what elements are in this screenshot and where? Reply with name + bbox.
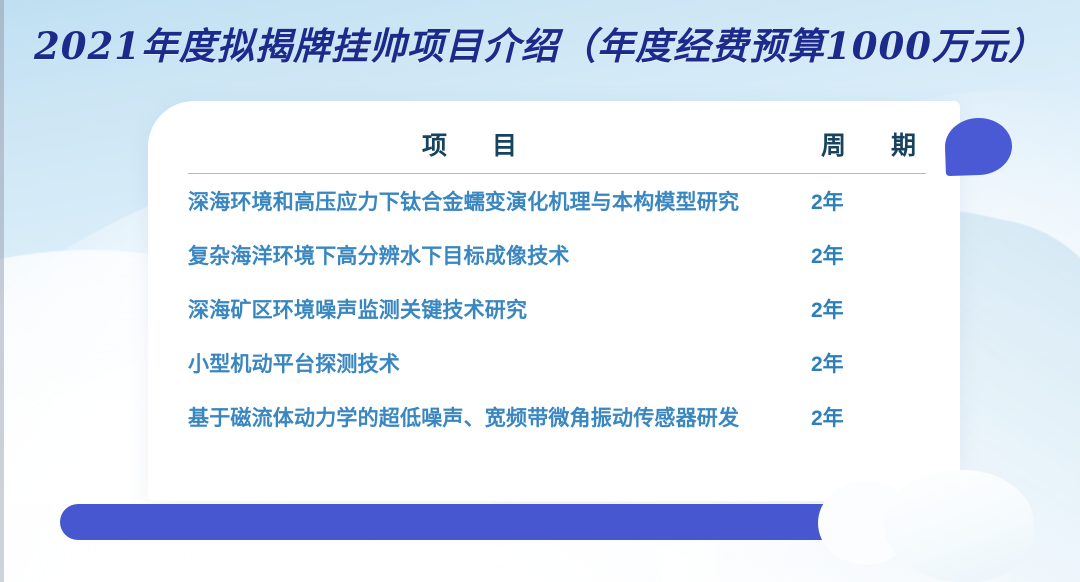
table-header-row: 项 目 周 期	[188, 126, 926, 174]
project-period: 2年	[797, 402, 926, 432]
project-name: 复杂海洋环境下高分辨水下目标成像技术	[188, 240, 797, 270]
table-row: 深海环境和高压应力下钛合金蠕变演化机理与本构模型研究 2年	[188, 174, 926, 228]
project-period: 2年	[797, 240, 926, 270]
project-period: 2年	[797, 186, 926, 216]
table-row: 深海矿区环境噪声监测关键技术研究 2年	[188, 282, 926, 336]
slide-canvas: 2021年度拟揭牌挂帅项目介绍（年度经费预算1000万元） 项 目 周 期 深海…	[0, 0, 1080, 582]
project-name: 深海环境和高压应力下钛合金蠕变演化机理与本构模型研究	[188, 186, 797, 216]
project-period: 2年	[797, 294, 926, 324]
column-header-period: 周 期	[811, 126, 926, 162]
column-header-project: 项 目	[188, 126, 811, 162]
project-period: 2年	[797, 348, 926, 378]
project-name: 深海矿区环境噪声监测关键技术研究	[188, 294, 797, 324]
leaf-decoration-icon	[944, 117, 1013, 176]
project-table: 项 目 周 期 深海环境和高压应力下钛合金蠕变演化机理与本构模型研究 2年 复杂…	[188, 126, 926, 444]
bottom-right-highlight	[884, 470, 1034, 582]
project-name: 基于磁流体动力学的超低噪声、宽频带微角振动传感器研发	[188, 402, 797, 432]
bottom-accent-bar	[60, 504, 940, 540]
left-edge-border	[0, 0, 4, 582]
page-title: 2021年度拟揭牌挂帅项目介绍（年度经费预算1000万元）	[0, 16, 1080, 70]
table-row: 基于磁流体动力学的超低噪声、宽频带微角振动传感器研发 2年	[188, 390, 926, 444]
table-row: 小型机动平台探测技术 2年	[188, 336, 926, 390]
project-name: 小型机动平台探测技术	[188, 348, 797, 378]
table-row: 复杂海洋环境下高分辨水下目标成像技术 2年	[188, 228, 926, 282]
project-card: 项 目 周 期 深海环境和高压应力下钛合金蠕变演化机理与本构模型研究 2年 复杂…	[148, 101, 960, 501]
